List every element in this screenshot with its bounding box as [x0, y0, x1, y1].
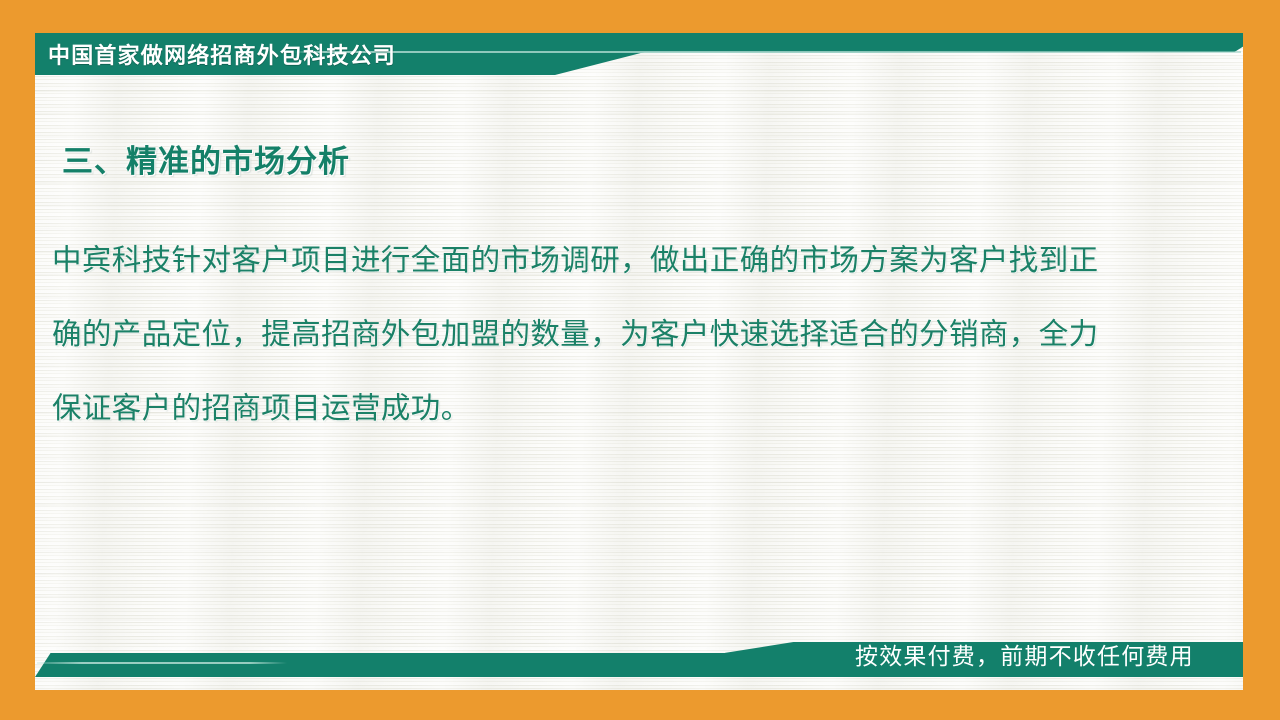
body-line: 确的产品定位，提高招商外包加盟的数量，为客户快速选择适合的分销商，全力 — [52, 298, 1187, 372]
body-line: 中宾科技针对客户项目进行全面的市场调研，做出正确的市场方案为客户找到正 — [52, 224, 1187, 298]
body-line: 保证客户的招商项目运营成功。 — [52, 372, 1187, 446]
body-paragraph: 中宾科技针对客户项目进行全面的市场调研，做出正确的市场方案为客户找到正 确的产品… — [52, 224, 1187, 446]
header-banner-text: 中国首家做网络招商外包科技公司 — [48, 33, 396, 75]
presentation-slide: 中国首家做网络招商外包科技公司 三、精准的市场分析 中宾科技针对客户项目进行全面… — [0, 0, 1280, 720]
footer-tagline: 按效果付费，前期不收任何费用 — [855, 638, 1227, 670]
section-heading: 三、精准的市场分析 — [62, 136, 350, 181]
